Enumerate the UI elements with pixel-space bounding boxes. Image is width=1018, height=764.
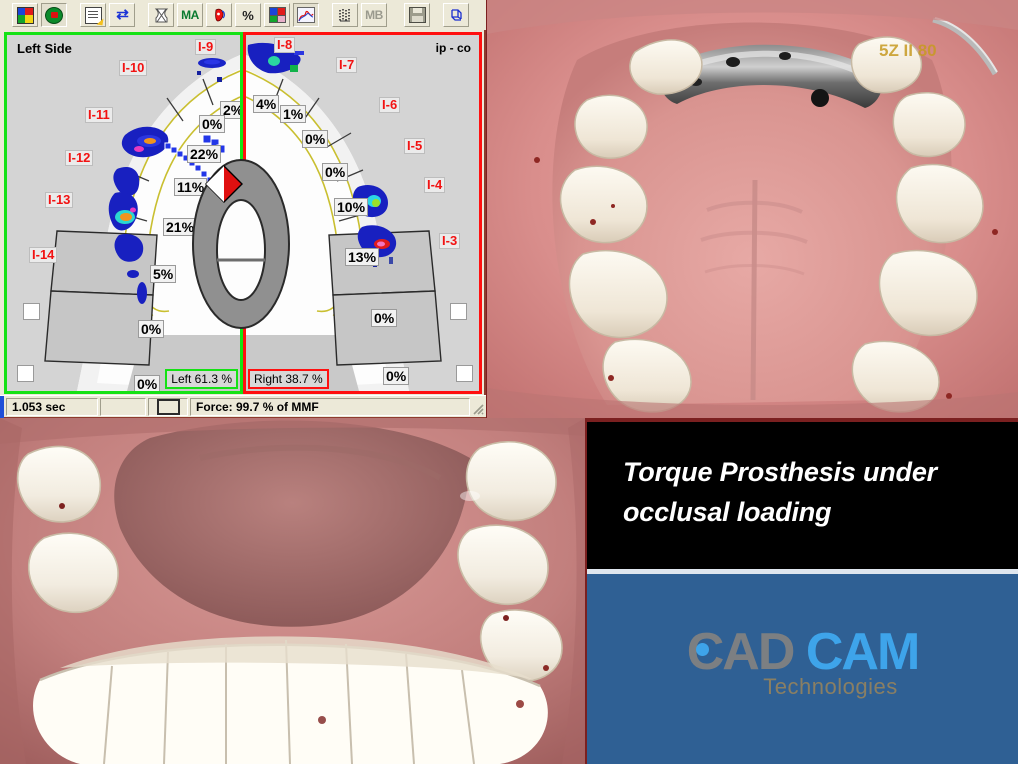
bite-icon xyxy=(154,8,169,23)
tooth-tag-i3[interactable]: I-3 xyxy=(439,233,460,249)
mouse-tooth-icon xyxy=(212,8,227,23)
mb-icon: MB xyxy=(365,8,383,22)
caption-panel: Torque Prosthesis under occlusal loading xyxy=(587,422,1018,569)
percent-tag-left-6: 5% xyxy=(150,265,176,283)
toolbar: ⇄ MA % xyxy=(0,0,486,30)
logo-dot-icon xyxy=(696,643,709,656)
cadcam-logo: CAD CAM Technologies xyxy=(587,626,1018,700)
network-icon xyxy=(449,8,464,23)
save-icon-button[interactable] xyxy=(404,3,430,27)
percent-tag-right-3: 0% xyxy=(302,130,328,148)
force-map-right-half[interactable]: ip - co I-8 I-7 I-6 I-5 I-4 I-3 4% 1% 0%… xyxy=(243,32,482,394)
left-side-label: Left Side xyxy=(17,41,72,56)
mouse-tooth-icon-button[interactable] xyxy=(206,3,232,27)
record-circle-icon-button[interactable] xyxy=(41,3,67,27)
percent-tag-left-3: 22% xyxy=(187,145,221,163)
status-window-icon-button[interactable] xyxy=(148,398,188,416)
percent-tag-left-4: 11% xyxy=(174,178,207,196)
mb-icon-button[interactable]: MB xyxy=(361,3,387,27)
logo-wordmark: CAD CAM xyxy=(587,626,1018,678)
tooth-tag-i5[interactable]: I-5 xyxy=(404,138,425,154)
tooth-tag-i14[interactable]: I-14 xyxy=(29,247,57,263)
percent-icon-button[interactable]: % xyxy=(235,3,261,27)
tooth-tag-i10[interactable]: I-10 xyxy=(119,60,147,76)
edit-note-icon xyxy=(85,7,102,24)
maxillary-arch-photo: 5Z II 80 xyxy=(487,0,1018,418)
status-left-accent xyxy=(0,396,4,418)
color-quad-icon-button[interactable] xyxy=(12,3,38,27)
status-blank-cell xyxy=(100,398,146,416)
tooth-tag-i13[interactable]: I-13 xyxy=(45,192,73,208)
left-total-badge: Left 61.3 % xyxy=(165,369,238,389)
tooth-tag-i11[interactable]: I-11 xyxy=(85,107,113,123)
percent-tag-right-4: 0% xyxy=(322,163,348,181)
status-force: Force: 99.7 % of MMF xyxy=(190,398,470,416)
ma-icon: MA xyxy=(181,8,199,22)
grid-quad-icon xyxy=(269,7,286,23)
percent-tag-right-2: 1% xyxy=(280,105,306,123)
percent-tag-right-1: 4% xyxy=(253,95,279,113)
tooth-tag-i4[interactable]: I-4 xyxy=(424,177,445,193)
svg-text:5Z II 80: 5Z II 80 xyxy=(879,41,937,60)
caption-text: Torque Prosthesis under occlusal loading xyxy=(623,452,1003,532)
logo-cad-text: CAD xyxy=(687,623,806,681)
resize-handle-right-b[interactable] xyxy=(456,365,473,382)
tooth-tag-i12[interactable]: I-12 xyxy=(65,150,93,166)
percent-tag-left-7: 0% xyxy=(138,320,164,338)
swap-arrows-icon: ⇄ xyxy=(116,8,128,22)
save-icon xyxy=(409,7,426,23)
multibite-icon xyxy=(338,8,352,23)
screenshot-root: ⇄ MA % xyxy=(0,0,1018,764)
record-circle-icon xyxy=(45,7,63,24)
resize-handle-right-a[interactable] xyxy=(450,303,467,320)
percent-tag-right-8: 0% xyxy=(383,367,409,385)
resize-grip-icon[interactable] xyxy=(470,401,484,415)
tscan-application-panel: ⇄ MA % xyxy=(0,0,486,420)
ip-co-label: ip - co xyxy=(436,41,471,55)
force-map-left-half[interactable]: Left Side I-9 I-10 I-11 I-12 I-13 I-14 2… xyxy=(4,32,243,394)
mandibular-arch-photo xyxy=(0,418,585,764)
force-graph-icon xyxy=(297,7,315,23)
percent-tag-left-2: 0% xyxy=(199,115,225,133)
grid-quad-icon-button[interactable] xyxy=(264,3,290,27)
force-map[interactable]: Left Side I-9 I-10 I-11 I-12 I-13 I-14 2… xyxy=(4,32,482,394)
resize-handle-left-b[interactable] xyxy=(17,365,34,382)
right-total-badge: Right 38.7 % xyxy=(248,369,329,389)
logo-panel: CAD CAM Technologies xyxy=(587,574,1018,764)
ma-icon-button[interactable]: MA xyxy=(177,3,203,27)
tooth-tag-i9[interactable]: I-9 xyxy=(195,39,216,55)
tooth-tag-i6[interactable]: I-6 xyxy=(379,97,400,113)
multibite-icon-button[interactable] xyxy=(332,3,358,27)
window-box-icon xyxy=(157,399,180,415)
left-arch-graphic xyxy=(7,35,240,391)
percent-icon: % xyxy=(242,8,254,23)
percent-tag-right-7: 0% xyxy=(371,309,397,327)
bite-icon-button[interactable] xyxy=(148,3,174,27)
status-time: 1.053 sec xyxy=(6,398,98,416)
percent-tag-left-5: 21% xyxy=(163,218,197,236)
resize-handle-left-a[interactable] xyxy=(23,303,40,320)
percent-tag-left-8: 0% xyxy=(134,375,160,393)
caption-line-1: Torque Prosthesis under xyxy=(623,452,1003,492)
logo-cam-text: CAM xyxy=(806,623,918,681)
caption-line-2: occlusal loading xyxy=(623,492,1003,532)
force-graph-icon-button[interactable] xyxy=(293,3,319,27)
percent-tag-right-5: 10% xyxy=(334,198,368,216)
tooth-tag-i7[interactable]: I-7 xyxy=(336,57,357,73)
tooth-tag-i8[interactable]: I-8 xyxy=(274,37,295,53)
edit-note-icon-button[interactable] xyxy=(80,3,106,27)
color-quad-icon xyxy=(17,7,34,24)
status-bar: 1.053 sec Force: 99.7 % of MMF xyxy=(0,395,486,417)
network-icon-button[interactable] xyxy=(443,3,469,27)
swap-arrows-icon-button[interactable]: ⇄ xyxy=(109,3,135,27)
percent-tag-right-6: 13% xyxy=(345,248,379,266)
